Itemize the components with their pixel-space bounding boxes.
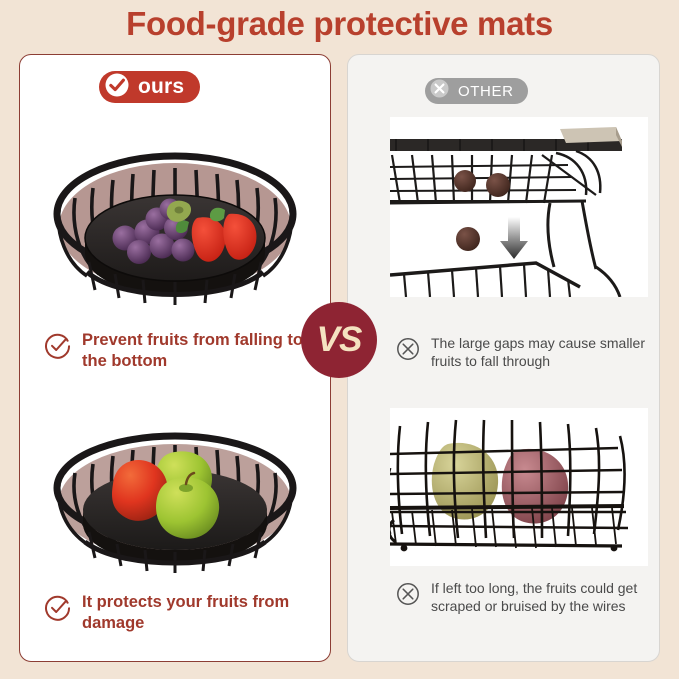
other-feature-2-text: If left too long, the fruits could get s…: [431, 580, 646, 615]
ours-feature-2: It protects your fruits from damage: [44, 592, 304, 634]
check-circle-outline-icon: [44, 594, 71, 626]
vs-badge: VS: [301, 302, 377, 378]
vs-label: VS: [317, 320, 362, 360]
ours-feature-1: Prevent fruits from falling to the botto…: [44, 330, 304, 372]
other-badge-label: OTHER: [458, 83, 514, 100]
other-photo-bruising: [390, 408, 648, 566]
other-feature-1: The large gaps may cause smaller fruits …: [396, 335, 646, 370]
infographic-page: Food-grade protective mats ours: [0, 0, 679, 679]
check-circle-icon: [104, 72, 130, 103]
other-feature-1-text: The large gaps may cause smaller fruits …: [431, 335, 646, 370]
ours-badge-label: ours: [138, 75, 184, 99]
x-circle-icon: [429, 78, 450, 104]
ours-feature-1-text: Prevent fruits from falling to the botto…: [82, 330, 304, 372]
check-circle-outline-icon: [44, 332, 71, 364]
other-photo-gaps: [390, 117, 648, 297]
other-badge: OTHER: [425, 78, 528, 104]
page-title: Food-grade protective mats: [0, 2, 679, 46]
ours-photo-apples: [29, 404, 321, 576]
ours-badge: ours: [99, 71, 200, 103]
x-circle-outline-icon: [396, 337, 420, 366]
x-circle-outline-icon: [396, 582, 420, 611]
ours-feature-2-text: It protects your fruits from damage: [82, 592, 304, 634]
ours-photo-grapes-strawberries: [29, 122, 321, 312]
other-feature-2: If left too long, the fruits could get s…: [396, 580, 646, 615]
